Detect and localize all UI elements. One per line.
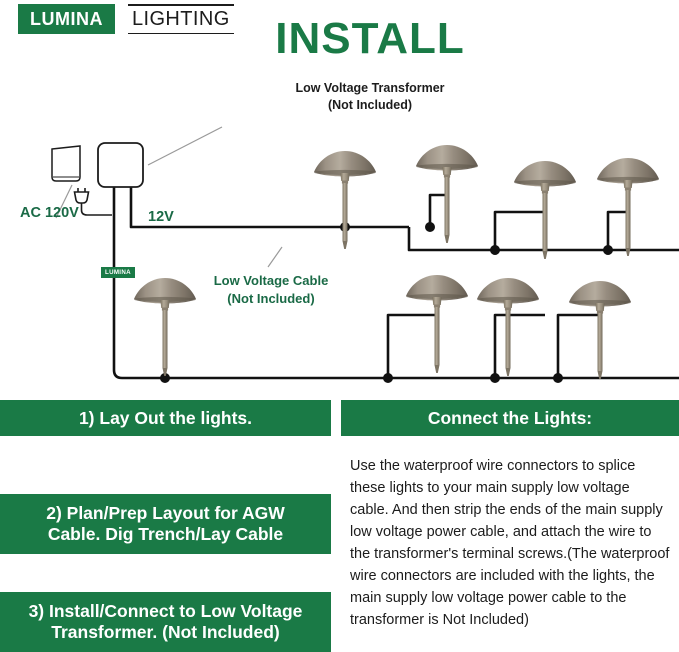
step-2-line-1: 2) Plan/Prep Layout for AGW — [46, 503, 285, 524]
logo-rule-top — [128, 4, 234, 6]
connect-lights-body: Use the waterproof wire connectors to sp… — [350, 455, 672, 631]
label-cable-line-1: Low Voltage Cable — [196, 272, 346, 290]
step-2-banner: 2) Plan/Prep Layout for AGW Cable. Dig T… — [0, 494, 331, 554]
label-ac-120v: AC 120V — [20, 205, 79, 221]
label-12v: 12V — [148, 209, 174, 225]
transformer-logo-chip: LUMINA — [101, 267, 135, 278]
subtitle-line-1: Low Voltage Transformer — [235, 80, 505, 97]
label-cable-line-2: (Not Included) — [196, 290, 346, 308]
ac-outlet — [52, 146, 80, 181]
step-3-line-2: Transformer. (Not Included) — [29, 622, 303, 643]
logo-word-text: LIGHTING — [132, 9, 230, 29]
brand-logo: LUMINA LIGHTING — [18, 4, 234, 34]
page-subtitle: Low Voltage Transformer (Not Included) — [235, 80, 505, 114]
transformer-box — [98, 143, 143, 187]
page-title: INSTALL — [255, 17, 485, 61]
logo-word-lighting: LIGHTING — [128, 4, 234, 34]
install-instruction-page: LUMINA LIGHTING INSTALL Low Voltage Tran… — [0, 0, 679, 652]
logo-rule-bottom — [128, 33, 234, 35]
wiring-diagram: LUMINA — [0, 115, 679, 395]
subtitle-line-2: (Not Included) — [235, 97, 505, 114]
logo-badge-lumina: LUMINA — [18, 4, 115, 34]
connect-lights-heading: Connect the Lights: — [341, 400, 679, 436]
step-3-banner: 3) Install/Connect to Low Voltage Transf… — [0, 592, 331, 652]
step-2-line-2: Cable. Dig Trench/Lay Cable — [46, 524, 285, 545]
label-low-voltage-cable: Low Voltage Cable (Not Included) — [196, 272, 346, 307]
step-1-banner: 1) Lay Out the lights. — [0, 400, 331, 436]
step-3-line-1: 3) Install/Connect to Low Voltage — [29, 601, 303, 622]
